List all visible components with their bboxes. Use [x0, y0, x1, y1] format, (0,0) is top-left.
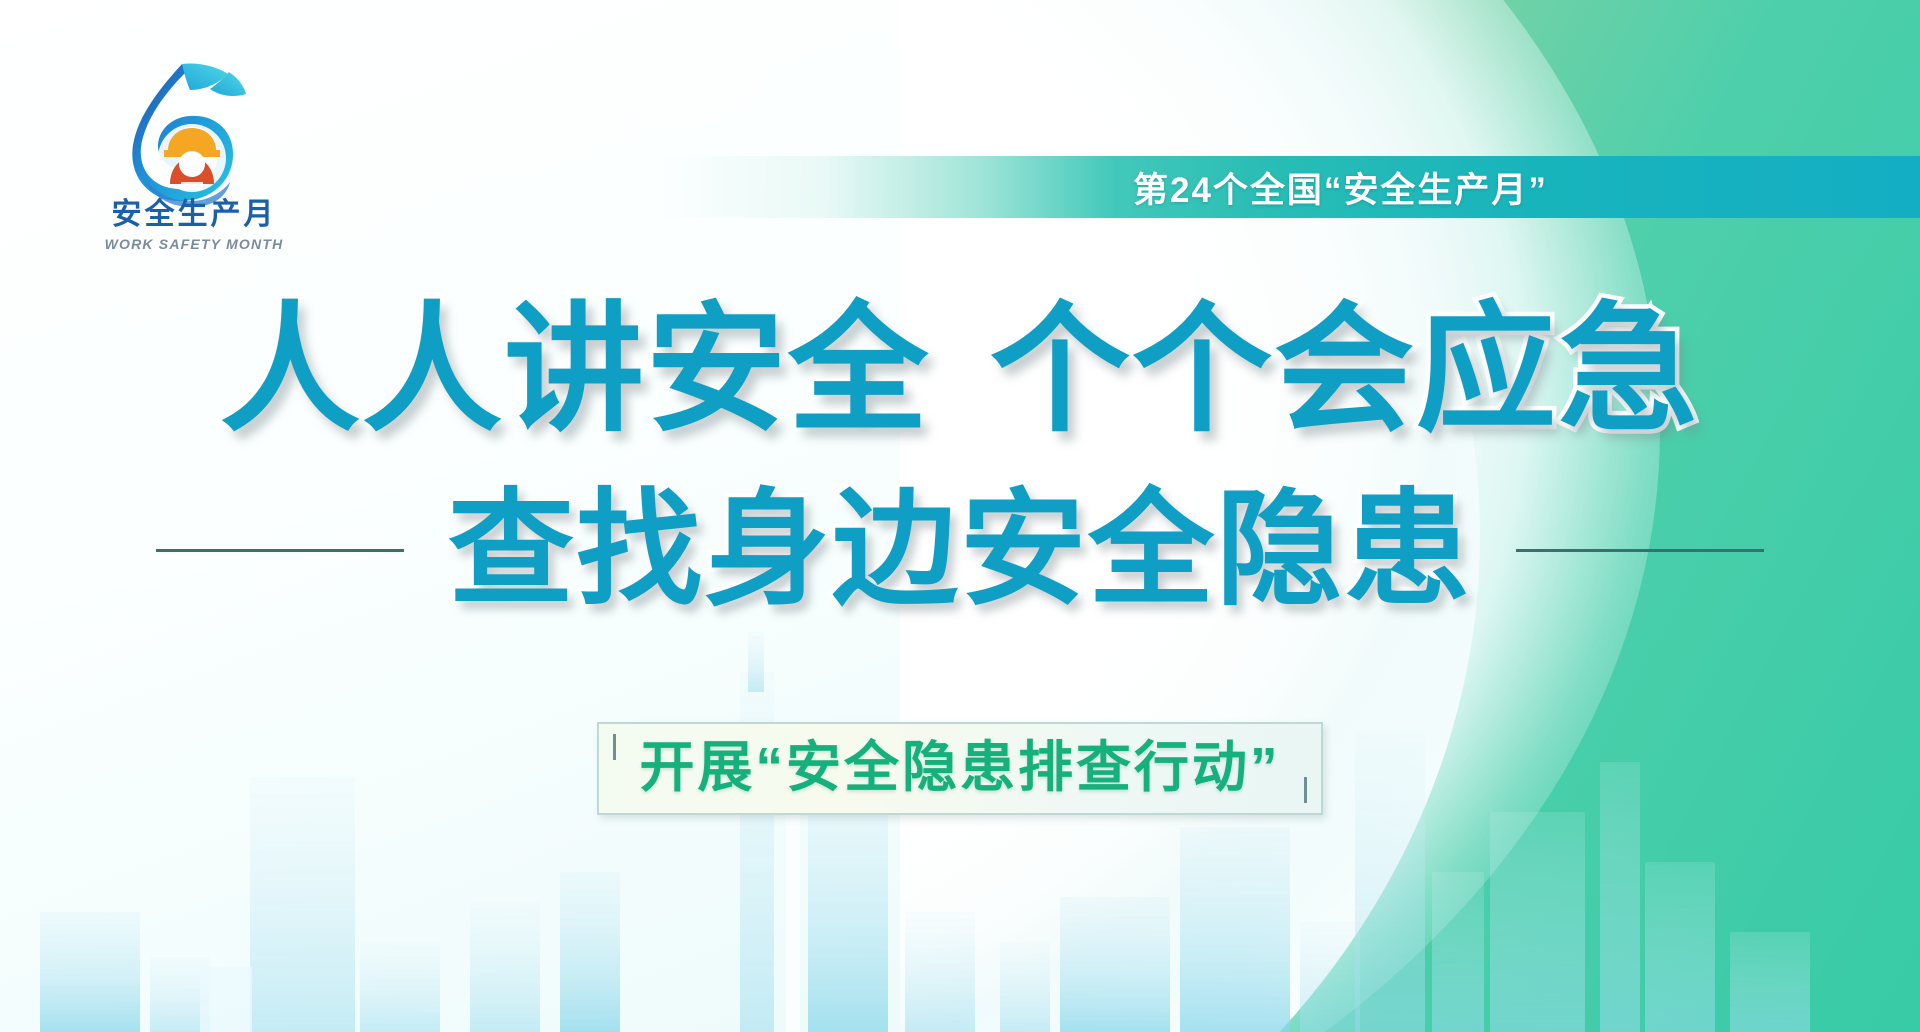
headline-line-2: 查找身边安全隐患	[448, 487, 1472, 613]
safety-month-poster: 第24个全国“安全生产月”	[0, 0, 1920, 1032]
banner-title: 第24个全国“安全生产月”	[1133, 162, 1548, 213]
logo-chinese-label: 安全生产月	[94, 200, 294, 230]
rule-right	[1516, 549, 1764, 552]
work-safety-month-six-helmet-icon	[86, 58, 286, 208]
headline-line-2-row: 查找身边安全隐患	[0, 470, 1920, 630]
headline-line-1-part-2: 个个会应急	[990, 291, 1700, 448]
city-skyline-graphic	[0, 612, 1920, 1032]
headline-line-1: 人人讲安全个个会应急	[0, 300, 1920, 440]
logo-english-label: WORK SAFETY MONTH	[94, 236, 294, 252]
subtitle-text: 开展“安全隐患排查行动”	[639, 736, 1280, 799]
headline-line-1-part-1: 人人讲安全	[220, 291, 930, 448]
rule-left	[156, 549, 404, 552]
subtitle-row: 开展“安全隐患排查行动”	[0, 722, 1920, 815]
logo: 安全生产月 WORK SAFETY MONTH	[86, 58, 301, 258]
subtitle-frame: 开展“安全隐患排查行动”	[597, 722, 1322, 815]
